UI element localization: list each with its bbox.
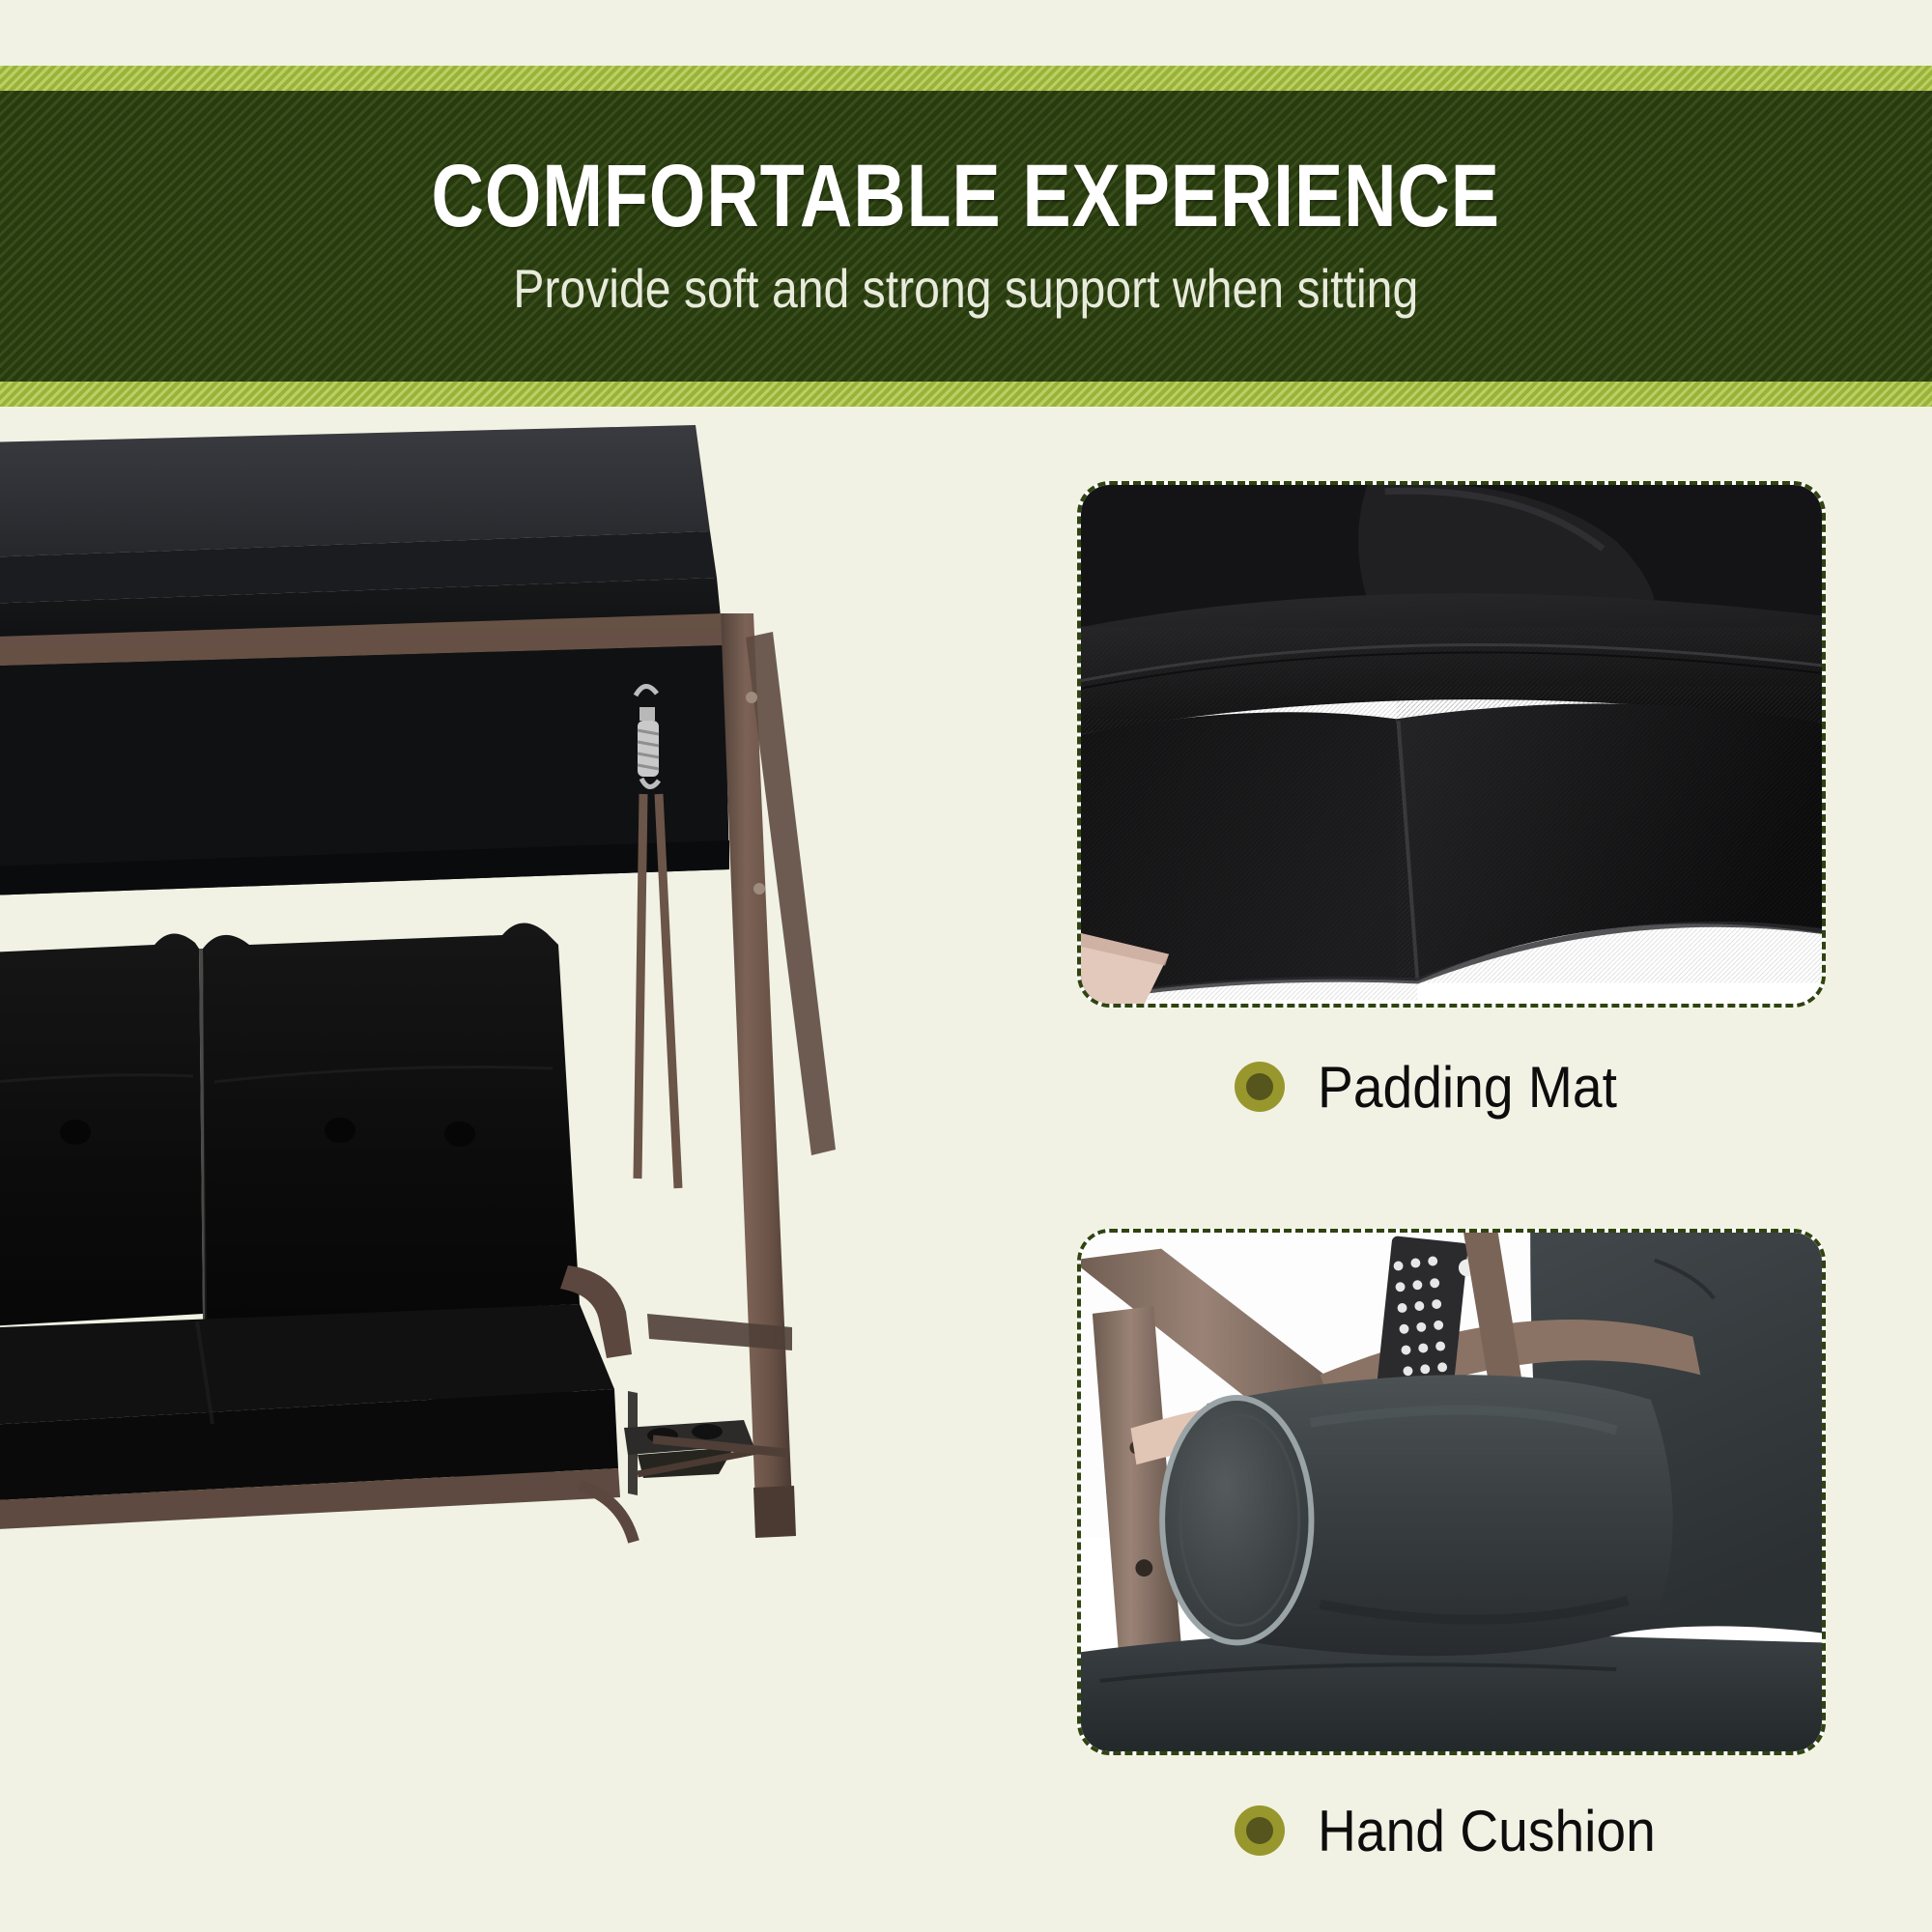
bullet-dot-icon bbox=[1235, 1805, 1285, 1856]
banner-body: COMFORTABLE EXPERIENCE Provide soft and … bbox=[0, 91, 1932, 382]
padding-mat-closeup-image bbox=[1081, 485, 1822, 1004]
bullet-dot-icon bbox=[1235, 1062, 1285, 1112]
detail-panel-padding-mat bbox=[1077, 481, 1826, 1008]
banner-stripe-top bbox=[0, 66, 1932, 91]
patio-swing-illustration bbox=[0, 415, 869, 1613]
caption-label-padding-mat: Padding Mat bbox=[1318, 1054, 1617, 1121]
caption-label-hand-cushion: Hand Cushion bbox=[1318, 1798, 1656, 1864]
page-title: COMFORTABLE EXPERIENCE bbox=[432, 152, 1500, 241]
caption-hand-cushion: Hand Cushion bbox=[1235, 1792, 1685, 1869]
hand-cushion-closeup-image bbox=[1081, 1233, 1822, 1751]
banner-stripe-bottom bbox=[0, 382, 1932, 407]
hero-product-image bbox=[0, 415, 869, 1613]
page-subtitle: Provide soft and strong support when sit… bbox=[514, 262, 1419, 316]
detail-panel-hand-cushion bbox=[1077, 1229, 1826, 1755]
header-banner: COMFORTABLE EXPERIENCE Provide soft and … bbox=[0, 66, 1932, 407]
caption-padding-mat: Padding Mat bbox=[1235, 1048, 1643, 1125]
